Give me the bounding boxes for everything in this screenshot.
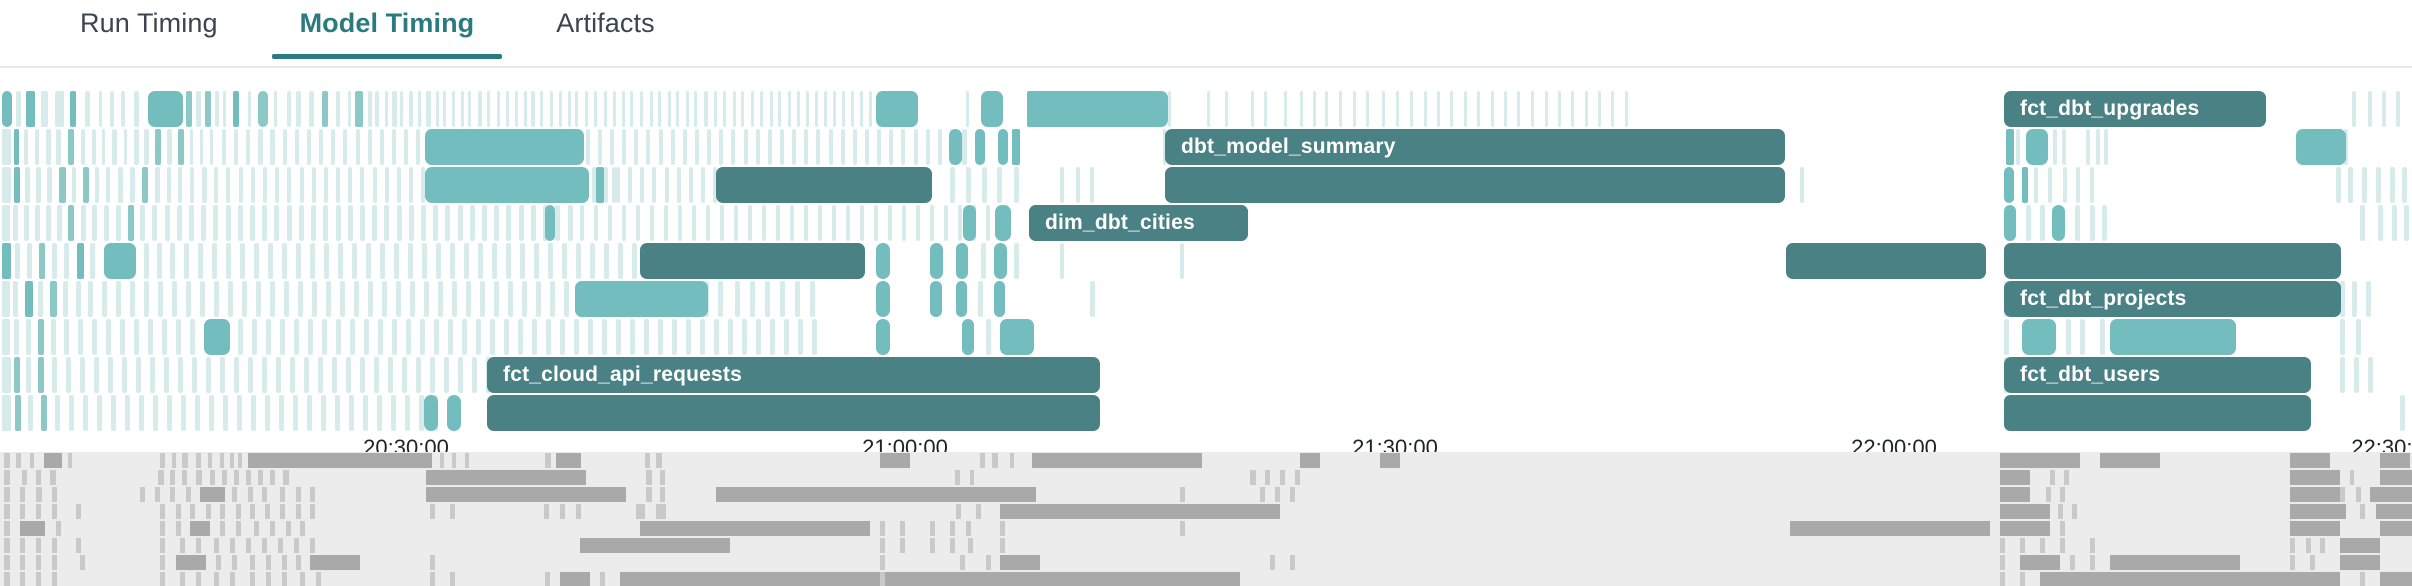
- gantt-bar[interactable]: [24, 129, 28, 165]
- gantt-bar[interactable]: [2016, 129, 2020, 165]
- gantt-bar[interactable]: [2004, 243, 2341, 279]
- gantt-bar[interactable]: [546, 319, 551, 355]
- gantt-bar[interactable]: [1284, 91, 1287, 127]
- gantt-bar[interactable]: [981, 243, 986, 279]
- gantt-bar[interactable]: [2004, 319, 2009, 355]
- gantt-bar[interactable]: [2104, 129, 2108, 165]
- gantt-bar[interactable]: [373, 167, 377, 203]
- gantt-bar[interactable]: [444, 357, 449, 393]
- gantt-bar[interactable]: [81, 129, 85, 165]
- gantt-bar[interactable]: [284, 281, 289, 317]
- gantt-bar[interactable]: [144, 243, 149, 279]
- gantt-bar[interactable]: [420, 319, 425, 355]
- gantt-bar[interactable]: [742, 319, 747, 355]
- gantt-bar[interactable]: [797, 91, 800, 127]
- gantt-bar[interactable]: [671, 129, 675, 165]
- gantt-bar[interactable]: [622, 205, 626, 241]
- gantt-bar[interactable]: [102, 281, 107, 317]
- gantt-bar[interactable]: [263, 167, 267, 203]
- gantt-bar[interactable]: [433, 205, 438, 241]
- gantt-bar[interactable]: [2390, 167, 2395, 203]
- gantt-bar[interactable]: [519, 205, 524, 241]
- gantt-bar[interactable]: [83, 167, 89, 203]
- gantt-bar[interactable]: [692, 205, 696, 241]
- gantt-bar[interactable]: [287, 167, 291, 203]
- tab-artifacts[interactable]: Artifacts: [528, 0, 682, 59]
- gantt-bar[interactable]: [610, 129, 614, 165]
- gantt-bar[interactable]: [975, 129, 985, 165]
- gantt-bar[interactable]: [392, 91, 397, 127]
- gantt-bar[interactable]: [1491, 91, 1494, 127]
- gantt-bar[interactable]: [178, 357, 183, 393]
- gantt-bar[interactable]: [426, 91, 431, 127]
- gantt-bar[interactable]: [352, 243, 357, 279]
- gantt-bar[interactable]: [2076, 167, 2080, 203]
- gantt-bar[interactable]: [380, 129, 384, 165]
- gantt-bar[interactable]: [254, 243, 259, 279]
- gantt-bar[interactable]: [2, 357, 11, 393]
- gantt-bar[interactable]: [35, 129, 39, 165]
- gantt-bar[interactable]: [251, 395, 256, 431]
- gantt-bar[interactable]: [877, 129, 881, 165]
- gantt-bar[interactable]: [504, 319, 509, 355]
- gantt-bar[interactable]: [1014, 243, 1019, 279]
- gantt-bar[interactable]: [958, 205, 962, 241]
- gantt-bar[interactable]: [438, 281, 443, 317]
- gantt-bar[interactable]: [416, 357, 421, 393]
- gantt-bar[interactable]: [181, 395, 186, 431]
- gantt-bar[interactable]: [90, 243, 95, 279]
- gantt-bar[interactable]: [672, 319, 677, 355]
- gantt-bar[interactable]: [594, 205, 598, 241]
- gantt-bar[interactable]: [464, 243, 469, 279]
- gantt-bar[interactable]: [242, 281, 247, 317]
- gantt-bar[interactable]: [392, 319, 397, 355]
- gantt-bar[interactable]: [38, 281, 43, 317]
- gantt-bar[interactable]: [38, 357, 44, 393]
- gantt-bar[interactable]: [506, 205, 511, 241]
- gantt-bar[interactable]: [540, 91, 543, 127]
- gantt-bar[interactable]: [2, 129, 11, 165]
- gantt-bar[interactable]: [293, 395, 298, 431]
- gantt-bar[interactable]: [50, 281, 57, 317]
- gantt-bar[interactable]: [424, 281, 429, 317]
- gantt-bar[interactable]: [397, 167, 401, 203]
- gantt-bar[interactable]: [2063, 167, 2067, 203]
- gantt-bar[interactable]: [248, 91, 251, 127]
- gantt-bar[interactable]: [506, 243, 511, 279]
- gantt-bar[interactable]: [2378, 205, 2383, 241]
- gantt-bar[interactable]: [266, 319, 271, 355]
- gantt-bar[interactable]: [99, 91, 102, 127]
- gantt-bar[interactable]: [458, 357, 463, 393]
- gantt-bar[interactable]: [56, 129, 61, 165]
- gantt-bar[interactable]: [756, 129, 760, 165]
- gantt-bar[interactable]: [1437, 91, 1440, 127]
- gantt-bar[interactable]: [262, 205, 267, 241]
- gantt-bar[interactable]: [200, 129, 203, 165]
- gantt-bar[interactable]: [1504, 91, 1507, 127]
- gantt-bar[interactable]: [784, 319, 789, 355]
- gantt-bar[interactable]: [876, 281, 890, 317]
- gantt-bar[interactable]: [445, 205, 450, 241]
- gantt-bar[interactable]: [55, 395, 60, 431]
- gantt-bar[interactable]: [926, 129, 930, 165]
- gantt-bar[interactable]: [144, 129, 149, 165]
- gantt-bar[interactable]: [733, 91, 736, 127]
- gantt-bar[interactable]: [324, 243, 329, 279]
- gantt-bar[interactable]: [466, 281, 471, 317]
- gantt-bar[interactable]: [1424, 91, 1427, 127]
- gantt-bar[interactable]: [258, 129, 263, 165]
- gantt-bar[interactable]: [142, 167, 148, 203]
- gantt-bar[interactable]: [2110, 319, 2236, 355]
- gantt-bar[interactable]: [400, 91, 403, 127]
- gantt-bar[interactable]: [476, 319, 481, 355]
- gantt-bar[interactable]: [646, 129, 650, 165]
- gantt-bar[interactable]: [28, 395, 33, 431]
- gantt-bar[interactable]: [1251, 91, 1254, 127]
- gantt-bar[interactable]: [585, 91, 588, 127]
- gantt-bar[interactable]: [644, 319, 649, 355]
- gantt-bar[interactable]: [262, 357, 267, 393]
- gantt-bar[interactable]: [388, 357, 393, 393]
- gantt-bar[interactable]: [205, 91, 211, 127]
- gantt-bar[interactable]: [239, 167, 243, 203]
- gantt-bar[interactable]: [282, 243, 287, 279]
- gantt-bar[interactable]: [2004, 167, 2014, 203]
- gantt-bar[interactable]: [268, 243, 273, 279]
- gantt-bar[interactable]: [636, 205, 640, 241]
- gantt-bar[interactable]: [394, 243, 399, 279]
- gantt-bar[interactable]: [1517, 91, 1520, 127]
- gantt-bar[interactable]: [2396, 91, 2400, 127]
- model-timing-gantt[interactable]: fct_cloud_api_requestsdim_dbt_citiesdbt_…: [0, 90, 2412, 435]
- gantt-bar[interactable]: [139, 395, 144, 431]
- gantt-bar[interactable]: [916, 205, 920, 241]
- gantt-bar[interactable]: [153, 395, 158, 431]
- gantt-bar[interactable]: [94, 357, 99, 393]
- gantt-bar[interactable]: [287, 205, 292, 241]
- gantt-bar[interactable]: [1012, 129, 1020, 165]
- gantt-bar[interactable]: [1800, 167, 1804, 203]
- gantt-bar[interactable]: [366, 243, 371, 279]
- gantt-bar[interactable]: [304, 357, 309, 393]
- gantt-bar[interactable]: [336, 205, 341, 241]
- gantt-bar[interactable]: [148, 319, 153, 355]
- gantt-bar[interactable]: [748, 205, 752, 241]
- gantt-bar[interactable]: [798, 319, 803, 355]
- gantt-bar[interactable]: [559, 91, 562, 127]
- gantt-bar[interactable]: [102, 129, 105, 165]
- gantt-bar[interactable]: [2026, 205, 2031, 241]
- gantt-bar[interactable]: [128, 205, 134, 241]
- gantt-bar[interactable]: [689, 167, 693, 203]
- gantt-bar[interactable]: [167, 395, 172, 431]
- gantt-bar[interactable]: [63, 281, 68, 317]
- gantt-bar[interactable]: [1180, 243, 1184, 279]
- gantt-bar[interactable]: [152, 205, 157, 241]
- gantt-bar[interactable]: [436, 91, 439, 127]
- gantt-bar-labeled[interactable]: dbt_model_summary: [1165, 129, 1785, 165]
- gantt-bar[interactable]: [348, 167, 352, 203]
- gantt-bar[interactable]: [120, 319, 125, 355]
- gantt-bar[interactable]: [287, 91, 291, 127]
- gantt-bar[interactable]: [118, 167, 123, 203]
- gantt-bar[interactable]: [2, 243, 11, 279]
- gantt-bar[interactable]: [1396, 91, 1399, 127]
- gantt-bar[interactable]: [508, 281, 513, 317]
- gantt-bar[interactable]: [178, 129, 184, 165]
- gantt-bar[interactable]: [778, 91, 781, 127]
- gantt-bar[interactable]: [148, 91, 183, 127]
- gantt-bar[interactable]: [97, 395, 102, 431]
- gantt-bar[interactable]: [27, 243, 32, 279]
- gantt-bar[interactable]: [701, 167, 705, 203]
- gantt-bar[interactable]: [348, 91, 351, 127]
- gantt-bar[interactable]: [164, 357, 169, 393]
- gantt-bar[interactable]: [214, 281, 219, 317]
- gantt-bar[interactable]: [652, 167, 656, 203]
- gantt-bar[interactable]: [250, 205, 255, 241]
- gantt-bar[interactable]: [664, 205, 668, 241]
- gantt-bar[interactable]: [378, 319, 383, 355]
- gantt-bar[interactable]: [604, 243, 609, 279]
- gantt-bar[interactable]: [846, 205, 850, 241]
- gantt-bar[interactable]: [237, 395, 242, 431]
- gantt-bar[interactable]: [26, 357, 31, 393]
- gantt-bar[interactable]: [1571, 91, 1574, 127]
- gantt-bar[interactable]: [209, 395, 214, 431]
- gantt-bar[interactable]: [842, 91, 845, 127]
- gantt-bar[interactable]: [92, 205, 97, 241]
- gantt-bar[interactable]: [1558, 91, 1561, 127]
- gantt-bar[interactable]: [125, 395, 130, 431]
- gantt-bar[interactable]: [550, 281, 555, 317]
- gantt-bar[interactable]: [550, 91, 553, 127]
- gantt-bar[interactable]: [2080, 319, 2085, 355]
- gantt-bar[interactable]: [956, 243, 968, 279]
- gantt-bar[interactable]: [150, 357, 155, 393]
- gantt-bar[interactable]: [447, 395, 461, 431]
- gantt-bar[interactable]: [640, 91, 643, 127]
- gantt-bar[interactable]: [531, 91, 535, 127]
- gantt-bar[interactable]: [69, 395, 74, 431]
- gantt-bar[interactable]: [468, 91, 471, 127]
- gantt-bar[interactable]: [396, 281, 401, 317]
- gantt-bar[interactable]: [780, 129, 784, 165]
- gantt-bar[interactable]: [238, 205, 243, 241]
- gantt-bar[interactable]: [36, 167, 41, 203]
- gantt-bar[interactable]: [39, 243, 45, 279]
- gantt-bar[interactable]: [594, 91, 597, 127]
- gantt-bar[interactable]: [422, 243, 427, 279]
- gantt-bar[interactable]: [321, 395, 326, 431]
- gantt-bar[interactable]: [13, 281, 18, 317]
- gantt-bar[interactable]: [531, 205, 536, 241]
- gantt-bar[interactable]: [14, 319, 19, 355]
- gantt-bar[interactable]: [2004, 205, 2016, 241]
- gantt-bar[interactable]: [76, 281, 81, 317]
- gantt-bar[interactable]: [336, 319, 341, 355]
- gantt-bar[interactable]: [2360, 205, 2365, 241]
- gantt-bar[interactable]: [806, 91, 809, 127]
- gantt-bar[interactable]: [860, 205, 864, 241]
- gantt-bar[interactable]: [332, 357, 337, 393]
- gantt-bar[interactable]: [630, 91, 633, 127]
- gantt-bar[interactable]: [122, 357, 127, 393]
- gantt-bar[interactable]: [404, 129, 408, 165]
- gantt-bar[interactable]: [560, 319, 565, 355]
- gantt-bar[interactable]: [2048, 167, 2052, 203]
- gantt-bar[interactable]: [226, 205, 231, 241]
- gantt-bar[interactable]: [978, 281, 983, 317]
- gantt-bar[interactable]: [640, 167, 644, 203]
- gantt-bar[interactable]: [869, 91, 872, 127]
- gantt-bar[interactable]: [622, 91, 625, 127]
- gantt-bar[interactable]: [562, 243, 567, 279]
- gantt-bar[interactable]: [177, 205, 182, 241]
- gantt-bar[interactable]: [492, 243, 497, 279]
- gantt-bar[interactable]: [731, 129, 735, 165]
- gantt-bar[interactable]: [494, 281, 499, 317]
- gantt-bar[interactable]: [234, 357, 239, 393]
- gantt-bar[interactable]: [104, 243, 136, 279]
- gantt-bar[interactable]: [576, 243, 581, 279]
- gantt-bar[interactable]: [677, 167, 681, 203]
- gantt-bar-labeled[interactable]: fct_dbt_users: [2004, 357, 2311, 393]
- gantt-bar[interactable]: [382, 281, 387, 317]
- gantt-bar[interactable]: [226, 243, 231, 279]
- gantt-bar[interactable]: [25, 281, 33, 317]
- gantt-bar[interactable]: [1786, 243, 1986, 279]
- gantt-bar[interactable]: [436, 243, 441, 279]
- gantt-bar[interactable]: [368, 91, 372, 127]
- gantt-bar[interactable]: [130, 167, 135, 203]
- gantt-bar[interactable]: [1382, 91, 1385, 127]
- gantt-bar[interactable]: [2402, 167, 2407, 203]
- gantt-bar[interactable]: [41, 395, 47, 431]
- gantt-bar[interactable]: [64, 243, 69, 279]
- gantt-bar[interactable]: [59, 167, 66, 203]
- gantt-bar[interactable]: [462, 319, 467, 355]
- gantt-bar[interactable]: [26, 319, 31, 355]
- gantt-bar[interactable]: [106, 319, 111, 355]
- gantt-bar[interactable]: [522, 281, 527, 317]
- gantt-bar[interactable]: [804, 205, 808, 241]
- gantt-bar[interactable]: [157, 243, 162, 279]
- gantt-bar[interactable]: [938, 129, 942, 165]
- gantt-bar[interactable]: [686, 91, 689, 127]
- gantt-bar[interactable]: [252, 319, 257, 355]
- gantt-bar[interactable]: [1207, 91, 1210, 127]
- gantt-bar[interactable]: [110, 91, 114, 127]
- gantt-bar[interactable]: [497, 91, 500, 127]
- gantt-bar[interactable]: [1477, 91, 1480, 127]
- gantt-bar[interactable]: [851, 91, 854, 127]
- gantt-bar[interactable]: [487, 91, 490, 127]
- gantt-bar[interactable]: [723, 91, 726, 127]
- gantt-bar[interactable]: [13, 205, 18, 241]
- gantt-bar[interactable]: [46, 129, 51, 165]
- gantt-bar[interactable]: [167, 167, 171, 203]
- gantt-bar[interactable]: [15, 395, 21, 431]
- gantt-bar[interactable]: [190, 167, 194, 203]
- gantt-bar[interactable]: [788, 91, 791, 127]
- gantt-bar[interactable]: [1339, 91, 1342, 127]
- gantt-bar[interactable]: [270, 129, 275, 165]
- gantt-bar[interactable]: [95, 167, 99, 203]
- gantt-bar[interactable]: [196, 91, 201, 127]
- gantt-bar[interactable]: [26, 91, 35, 127]
- gantt-bar[interactable]: [222, 129, 226, 165]
- gantt-bar[interactable]: [650, 205, 654, 241]
- gantt-bar[interactable]: [930, 281, 942, 317]
- gantt-bar[interactable]: [1531, 91, 1534, 127]
- gantt-bar[interactable]: [1625, 91, 1628, 127]
- gantt-bar[interactable]: [14, 167, 20, 203]
- gantt-bar[interactable]: [134, 129, 139, 165]
- gantt-bar[interactable]: [66, 357, 71, 393]
- gantt-bar[interactable]: [2096, 129, 2100, 165]
- gantt-bar[interactable]: [2368, 357, 2373, 393]
- gantt-bar[interactable]: [307, 395, 312, 431]
- gantt-bar[interactable]: [85, 91, 90, 127]
- gantt-bar[interactable]: [246, 129, 250, 165]
- gantt-bar[interactable]: [756, 319, 761, 355]
- gantt-bar[interactable]: [2368, 91, 2372, 127]
- gantt-bar[interactable]: [2022, 319, 2056, 355]
- gantt-bar[interactable]: [506, 91, 509, 127]
- gantt-bar[interactable]: [14, 129, 19, 165]
- gantt-bar[interactable]: [434, 319, 439, 355]
- gantt-bar[interactable]: [452, 281, 457, 317]
- gantt-bar[interactable]: [38, 319, 44, 355]
- gantt-bar[interactable]: [1168, 91, 1171, 127]
- gantt-bar[interactable]: [322, 91, 328, 127]
- gantt-bar[interactable]: [590, 243, 595, 279]
- gantt-bar[interactable]: [765, 281, 770, 317]
- gantt-bar[interactable]: [889, 129, 893, 165]
- gantt-bar[interactable]: [2376, 167, 2381, 203]
- gantt-bar[interactable]: [200, 281, 205, 317]
- gantt-bar[interactable]: [714, 91, 717, 127]
- gantt-bar[interactable]: [832, 205, 836, 241]
- gantt-bar[interactable]: [1313, 91, 1316, 127]
- gantt-bar[interactable]: [632, 243, 637, 279]
- gantt-bar[interactable]: [1545, 91, 1548, 127]
- gantt-bar[interactable]: [385, 167, 389, 203]
- gantt-bar[interactable]: [490, 319, 495, 355]
- gantt-bar[interactable]: [443, 91, 446, 127]
- gantt-bar[interactable]: [686, 319, 691, 355]
- gantt-bar[interactable]: [2034, 167, 2038, 203]
- gantt-bar[interactable]: [372, 205, 377, 241]
- gantt-bar[interactable]: [124, 129, 127, 165]
- gantt-bar[interactable]: [2392, 205, 2397, 241]
- gantt-bar[interactable]: [47, 167, 52, 203]
- gantt-bar[interactable]: [612, 167, 616, 203]
- gantt-bar[interactable]: [586, 129, 590, 165]
- gantt-bar[interactable]: [518, 319, 523, 355]
- gantt-bar[interactable]: [790, 205, 794, 241]
- gantt-bar-labeled[interactable]: fct_cloud_api_requests: [487, 357, 1100, 393]
- gantt-bar[interactable]: [792, 129, 796, 165]
- gantt-bar[interactable]: [410, 281, 415, 317]
- gantt-bar[interactable]: [201, 205, 206, 241]
- gantt-bar[interactable]: [776, 205, 780, 241]
- gantt-bar[interactable]: [604, 167, 608, 203]
